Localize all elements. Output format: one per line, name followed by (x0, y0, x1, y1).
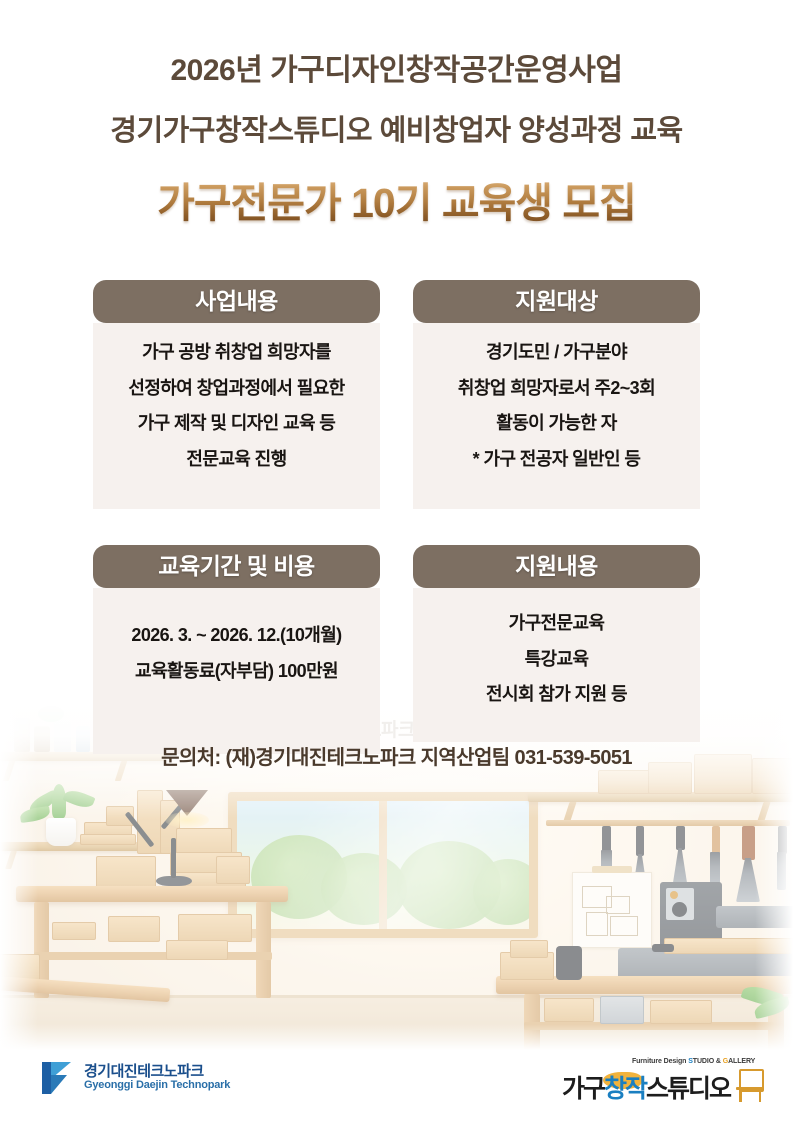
studio-tagline-a: Furniture Design (632, 1058, 688, 1065)
box-line: 취창업 희망자로서 주2~3회 (423, 377, 690, 400)
footer-logo-bar: 경기대진테크노파크 Gyeonggi Daejin Technopark Fur… (0, 1050, 793, 1122)
heading-line-3-title: 가구전문가 10기 교육생 모집 (0, 176, 793, 230)
technopark-name-english: Gyeonggi Daejin Technopark (84, 1080, 230, 1092)
box-body-support: 가구전문교육 특강교육 전시회 참가 지원 등 (413, 588, 700, 742)
gagu-changjak-studio-logo: Furniture Design STUDIO & GALLERY 가구창작스튜… (562, 1060, 765, 1105)
heading-line-1: 2026년 가구디자인창작공간운영사업 (0, 52, 793, 90)
box-line: 전문교육 진행 (103, 448, 370, 471)
heading-line-2: 경기가구창작스튜디오 예비창업자 양성과정 교육 (0, 112, 793, 150)
poster-root: 2026년 가구디자인창작공간운영사업 경기가구창작스튜디오 예비창업자 양성과… (0, 0, 793, 1122)
box-line: 가구전문교육 (423, 612, 690, 635)
box-title-support: 지원내용 (413, 545, 700, 588)
box-body-period-cost: 2026. 3. ~ 2026. 12.(10개월) 교육활동료(자부담) 10… (93, 588, 380, 754)
box-line: 2026. 3. ~ 2026. 12.(10개월) (103, 624, 370, 647)
box-line: 선정하여 창업과정에서 필요한 (103, 377, 370, 400)
info-box-business-content: 사업내용 가구 공방 취창업 희망자를 선정하여 창업과정에서 필요한 가구 제… (93, 280, 380, 509)
studio-tagline: Furniture Design STUDIO & GALLERY (632, 1058, 755, 1065)
studio-name-part-3: 스튜디오 (646, 1075, 730, 1103)
info-box-support: 지원내용 가구전문교육 특강교육 전시회 참가 지원 등 (413, 545, 700, 754)
gyeonggi-daejin-technopark-logo: 경기대진테크노파크 Gyeonggi Daejin Technopark (42, 1062, 230, 1094)
info-box-period-cost: 교육기간 및 비용 2026. 3. ~ 2026. 12.(10개월) 교육활… (93, 545, 380, 754)
info-box-eligibility: 지원대상 경기도민 / 가구분야 취창업 희망자로서 주2~3회 활동이 가능한… (413, 280, 700, 509)
technopark-mark-bar (42, 1062, 51, 1094)
technopark-name-korean: 경기대진테크노파크 (84, 1064, 230, 1080)
box-title-period-cost: 교육기간 및 비용 (93, 545, 380, 588)
studio-name-part-1: 가구 (562, 1075, 604, 1103)
box-title-business-content: 사업내용 (93, 280, 380, 323)
studio-logo-text: Furniture Design STUDIO & GALLERY 가구창작스튜… (562, 1060, 730, 1105)
technopark-logo-text: 경기대진테크노파크 Gyeonggi Daejin Technopark (84, 1064, 230, 1092)
box-line: 가구 제작 및 디자인 교육 등 (103, 412, 370, 435)
box-title-eligibility: 지원대상 (413, 280, 700, 323)
studio-name: 가구창작스튜디오 (562, 1069, 730, 1105)
technopark-mark-icon (42, 1062, 76, 1094)
box-line: 전시회 참가 지원 등 (423, 683, 690, 706)
box-body-eligibility: 경기도민 / 가구분야 취창업 희망자로서 주2~3회 활동이 가능한 자 * … (413, 323, 700, 509)
info-box-grid: 사업내용 가구 공방 취창업 희망자를 선정하여 창업과정에서 필요한 가구 제… (0, 280, 793, 754)
poster-headings: 2026년 가구디자인창작공간운영사업 경기가구창작스튜디오 예비창업자 양성과… (0, 0, 793, 230)
box-line: 활동이 가능한 자 (423, 412, 690, 435)
box-line: * 가구 전공자 일반인 등 (423, 448, 690, 471)
box-body-business-content: 가구 공방 취창업 희망자를 선정하여 창업과정에서 필요한 가구 제작 및 디… (93, 323, 380, 509)
chair-leg-right (759, 1089, 762, 1102)
technopark-mark-flag-2 (51, 1075, 67, 1094)
box-line: 가구 공방 취창업 희망자를 (103, 341, 370, 364)
chair-icon (735, 1069, 765, 1103)
chair-leg-left (739, 1089, 742, 1102)
studio-name-accent: 창작 (604, 1069, 646, 1105)
box-line: 경기도민 / 가구분야 (423, 341, 690, 364)
box-line: 특강교육 (423, 648, 690, 671)
box-line: 교육활동료(자부담) 100만원 (103, 660, 370, 683)
contact-line: 문의처: (재)경기대진테크노파크 지역산업팀 031-539-5051 (0, 741, 793, 770)
studio-tagline-c: TUDIO & (693, 1058, 723, 1065)
scene-bottom-fade (0, 1024, 793, 1050)
studio-tagline-e: ALLERY (728, 1058, 755, 1065)
studio-name-part-2: 창작 (604, 1075, 646, 1103)
